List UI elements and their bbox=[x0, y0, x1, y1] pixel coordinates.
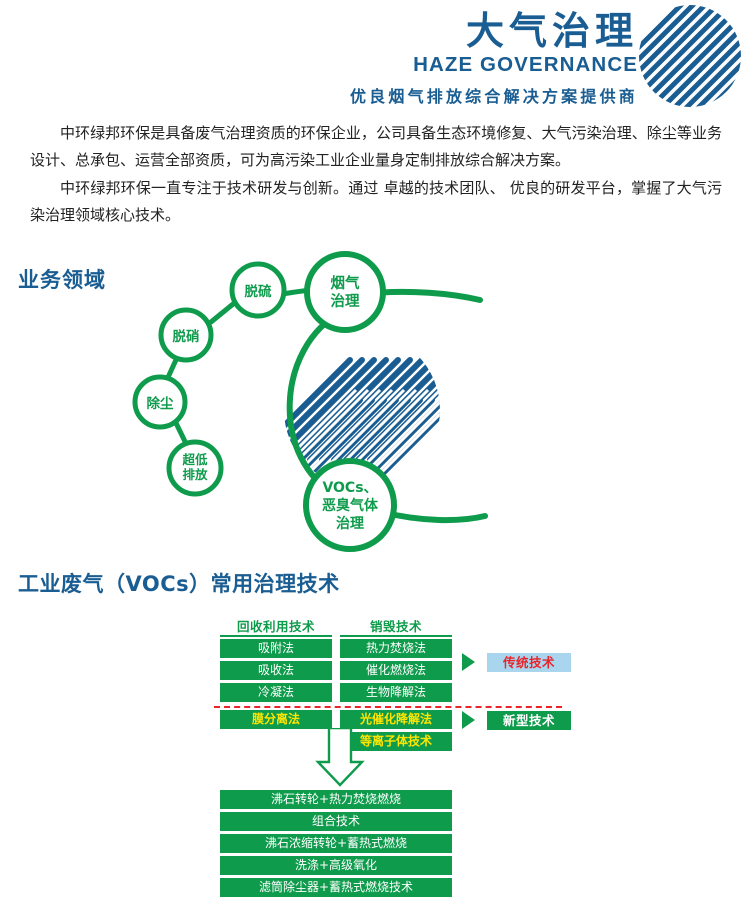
node-label-ultra-low-line2: 排放 bbox=[182, 467, 208, 482]
arrow-right-icon-modern bbox=[462, 711, 475, 729]
down-arrow-icon bbox=[315, 728, 365, 793]
page-subtitle: 优良烟气排放综合解决方案提供商 bbox=[350, 83, 638, 107]
intro-paragraph-2: 中环绿邦环保一直专注于技术研发与创新。通过 卓越的技术团队、 优良的研发平台，掌… bbox=[30, 175, 722, 230]
page-header: 大气治理 HAZE GOVERNANCE 优良烟气排放综合解决方案提供商 bbox=[0, 0, 750, 118]
cell-recovery-absorption[interactable]: 吸收法 bbox=[220, 661, 332, 680]
badge-traditional-tech: 传统技术 bbox=[487, 653, 571, 672]
diagram-node-flue-gas[interactable]: 烟气 治理 bbox=[307, 254, 383, 330]
node-label-flue-gas-line2: 治理 bbox=[331, 292, 360, 310]
cell-destruction-biodegradation[interactable]: 生物降解法 bbox=[340, 683, 452, 702]
intro-text: 中环绿邦环保是具备废气治理资质的环保企业，公司具备生态环境修复、大气污染治理、除… bbox=[30, 120, 722, 229]
header-text-block: 大气治理 HAZE GOVERNANCE 优良烟气排放综合解决方案提供商 bbox=[350, 12, 638, 107]
section-title-vocs-tech: 工业废气（VOCs）常用治理技术 bbox=[18, 568, 340, 598]
traditional-modern-divider bbox=[214, 706, 562, 708]
intro-paragraph-1: 中环绿邦环保是具备废气治理资质的环保企业，公司具备生态环境修复、大气污染治理、除… bbox=[30, 120, 722, 175]
combined-row-3[interactable]: 沸石浓缩转轮+蓄热式燃烧 bbox=[220, 834, 452, 853]
combined-row-4[interactable]: 洗涤+高级氧化 bbox=[220, 856, 452, 875]
cell-destruction-catalytic-combustion[interactable]: 催化燃烧法 bbox=[340, 661, 452, 680]
node-label-desulfurization: 脱硫 bbox=[245, 283, 272, 300]
node-label-vocs-line3: 治理 bbox=[336, 515, 364, 532]
poster-page: 大气治理 HAZE GOVERNANCE 优良烟气排放综合解决方案提供商 bbox=[0, 0, 750, 900]
node-label-vocs-line1: VOCs、 bbox=[322, 480, 377, 496]
diagram-node-vocs-odor[interactable]: VOCs、 恶臭气体 治理 bbox=[306, 461, 394, 549]
cell-recovery-membrane-separation[interactable]: 膜分离法 bbox=[220, 710, 332, 729]
diagram-node-dust-removal[interactable]: 除尘 bbox=[135, 377, 185, 427]
page-title-en: HAZE GOVERNANCE bbox=[350, 53, 638, 78]
diagonal-stripe-circle-logo-icon bbox=[638, 4, 742, 108]
combined-row-5[interactable]: 滤筒除尘器+蓄热式燃烧技术 bbox=[220, 878, 452, 897]
column-rule-recovery bbox=[220, 635, 332, 637]
vocs-tech-flowchart: 回收利用技术 销毁技术 吸附法 吸收法 冷凝法 热力焚烧法 催化燃烧法 生物降解… bbox=[0, 608, 750, 900]
node-label-flue-gas-line1: 烟气 bbox=[331, 274, 360, 292]
combined-row-1[interactable]: 沸石转轮+热力焚烧燃烧 bbox=[220, 790, 452, 809]
node-label-dust-removal: 除尘 bbox=[147, 395, 174, 412]
cell-destruction-thermal-incineration[interactable]: 热力焚烧法 bbox=[340, 639, 452, 658]
diagram-node-desulfurization[interactable]: 脱硫 bbox=[232, 264, 284, 316]
cell-recovery-adsorption[interactable]: 吸附法 bbox=[220, 639, 332, 658]
diagram-node-ultra-low-emission[interactable]: 超低 排放 bbox=[169, 442, 221, 494]
business-scope-diagram: 超低 排放 除尘 脱硝 脱硫 烟气 治理 bbox=[110, 250, 530, 555]
arrow-right-icon-traditional bbox=[462, 653, 475, 671]
section-title-business-scope: 业务领域 bbox=[18, 264, 106, 294]
node-label-ultra-low-line1: 超低 bbox=[181, 452, 208, 467]
page-title-cn: 大气治理 bbox=[350, 12, 638, 52]
diagram-node-denitrification[interactable]: 脱硝 bbox=[161, 310, 211, 360]
column-header-destruction: 销毁技术 bbox=[340, 616, 452, 635]
cell-destruction-photocatalytic[interactable]: 光催化降解法 bbox=[340, 710, 452, 729]
node-label-vocs-line2: 恶臭气体 bbox=[322, 497, 379, 514]
column-header-recovery: 回收利用技术 bbox=[220, 616, 332, 635]
badge-modern-tech: 新型技术 bbox=[487, 711, 571, 730]
cell-recovery-condensation[interactable]: 冷凝法 bbox=[220, 683, 332, 702]
column-rule-destruction bbox=[340, 635, 452, 637]
combined-row-2[interactable]: 组合技术 bbox=[220, 812, 452, 831]
node-label-denitrification: 脱硝 bbox=[173, 328, 200, 345]
